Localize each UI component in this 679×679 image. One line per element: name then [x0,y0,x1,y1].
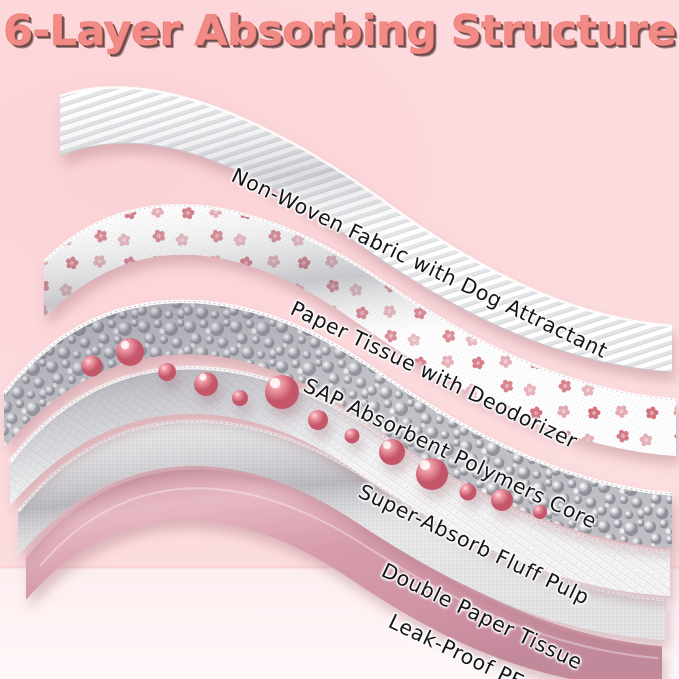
page-title: 6-Layer Absorbing Structure [0,6,679,55]
infographic-canvas: 6-Layer Absorbing Structure Non-Woven Fa… [0,0,679,679]
